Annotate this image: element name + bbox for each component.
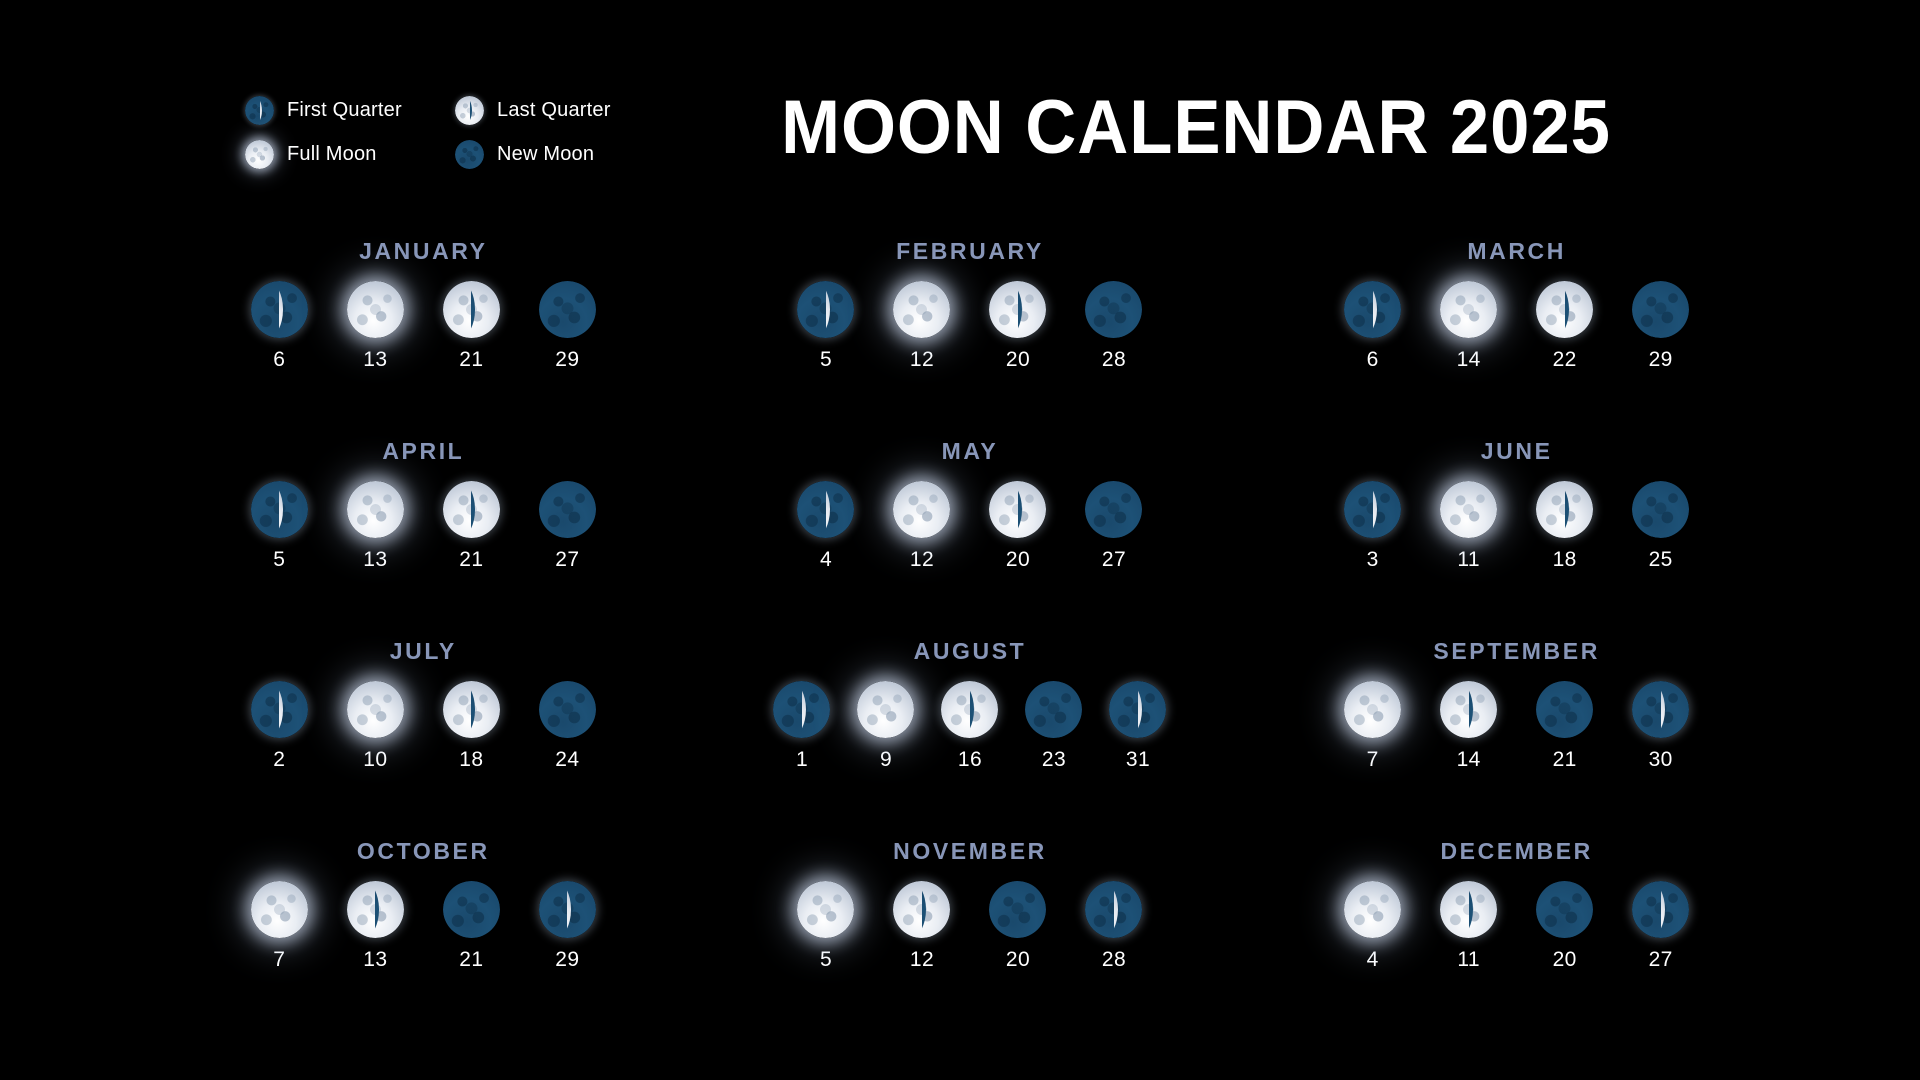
phase-row: 4112027 — [1342, 881, 1692, 972]
last-quarter-moon-icon — [1440, 881, 1497, 938]
phase-day-number: 21 — [459, 348, 483, 372]
new-moon-icon — [539, 281, 596, 338]
new-moon-icon — [1085, 281, 1142, 338]
phase-day-number: 18 — [459, 748, 483, 772]
phase-entry: 5 — [248, 481, 310, 572]
month-label: JUNE — [1481, 438, 1553, 465]
month-label: JANUARY — [359, 238, 488, 265]
phase-entry: 7 — [1342, 681, 1404, 772]
month-label: OCTOBER — [357, 838, 490, 865]
phase-day-number: 4 — [820, 548, 832, 572]
phase-day-number: 18 — [1553, 548, 1577, 572]
phase-entry: 20 — [987, 881, 1049, 972]
last-quarter-moon-icon — [455, 96, 484, 125]
phase-day-number: 23 — [1042, 748, 1066, 772]
last-quarter-moon-icon — [989, 481, 1046, 538]
month-block-october: OCTOBER7132129 — [150, 838, 697, 1038]
phase-day-number: 22 — [1553, 348, 1577, 372]
phase-entry: 4 — [1342, 881, 1404, 972]
new-moon-icon — [1025, 681, 1082, 738]
phase-row: 5122028 — [795, 281, 1145, 372]
phase-entry: 14 — [1438, 681, 1500, 772]
phase-entry: 21 — [1534, 681, 1596, 772]
phase-day-number: 29 — [555, 948, 579, 972]
full-moon-icon — [893, 481, 950, 538]
legend-label: Last Quarter — [497, 99, 611, 122]
phase-entry: 29 — [1630, 281, 1692, 372]
phase-entry: 7 — [248, 881, 310, 972]
first-quarter-moon-icon — [797, 481, 854, 538]
phase-row: 7132129 — [248, 881, 598, 972]
month-block-march: MARCH6142229 — [1243, 238, 1790, 438]
phase-row: 5122028 — [795, 881, 1145, 972]
month-block-june: JUNE3111825 — [1243, 438, 1790, 638]
phase-entry: 14 — [1438, 281, 1500, 372]
phase-day-number: 5 — [820, 348, 832, 372]
phase-day-number: 3 — [1367, 548, 1379, 572]
legend-item-full: Full Moon — [245, 140, 455, 169]
phase-day-number: 29 — [555, 348, 579, 372]
phase-day-number: 21 — [459, 548, 483, 572]
phase-day-number: 16 — [958, 748, 982, 772]
phase-day-number: 30 — [1649, 748, 1673, 772]
phase-entry: 5 — [795, 881, 857, 972]
legend-label: First Quarter — [287, 99, 402, 122]
phase-entry: 13 — [344, 881, 406, 972]
phase-entry: 28 — [1083, 281, 1145, 372]
phase-entry: 29 — [536, 881, 598, 972]
last-quarter-moon-icon — [443, 481, 500, 538]
phase-day-number: 28 — [1102, 948, 1126, 972]
full-moon-icon — [347, 481, 404, 538]
legend-item-last-quarter: Last Quarter — [455, 96, 665, 125]
full-moon-icon — [1440, 481, 1497, 538]
phase-entry: 22 — [1534, 281, 1596, 372]
phase-entry: 20 — [987, 481, 1049, 572]
phase-day-number: 12 — [910, 348, 934, 372]
phase-day-number: 27 — [1649, 948, 1673, 972]
phase-day-number: 2 — [273, 748, 285, 772]
phase-day-number: 12 — [910, 548, 934, 572]
phase-entry: 30 — [1630, 681, 1692, 772]
month-grid: JANUARY6132129FEBRUARY5122028MARCH614222… — [150, 238, 1790, 1038]
phase-day-number: 25 — [1649, 548, 1673, 572]
phase-entry: 21 — [440, 481, 502, 572]
phase-entry: 13 — [344, 481, 406, 572]
first-quarter-moon-icon — [797, 281, 854, 338]
phase-day-number: 21 — [1553, 748, 1577, 772]
first-quarter-moon-icon — [1632, 881, 1689, 938]
phase-day-number: 6 — [273, 348, 285, 372]
page-title: MOON CALENDAR 2025 — [722, 86, 1671, 170]
phase-day-number: 1 — [796, 748, 808, 772]
phase-entry: 27 — [1083, 481, 1145, 572]
phase-day-number: 14 — [1457, 348, 1481, 372]
phase-entry: 6 — [1342, 281, 1404, 372]
first-quarter-moon-icon — [1109, 681, 1166, 738]
phase-day-number: 7 — [273, 948, 285, 972]
phase-day-number: 4 — [1367, 948, 1379, 972]
month-block-september: SEPTEMBER7142130 — [1243, 638, 1790, 838]
last-quarter-moon-icon — [443, 681, 500, 738]
phase-entry: 9 — [855, 681, 917, 772]
phase-entry: 23 — [1023, 681, 1085, 772]
phase-entry: 24 — [536, 681, 598, 772]
last-quarter-moon-icon — [1536, 481, 1593, 538]
phase-entry: 12 — [891, 881, 953, 972]
full-moon-icon — [347, 681, 404, 738]
phase-entry: 13 — [344, 281, 406, 372]
phase-day-number: 13 — [363, 548, 387, 572]
phase-entry: 3 — [1342, 481, 1404, 572]
phase-entry: 31 — [1107, 681, 1169, 772]
month-block-july: JULY2101824 — [150, 638, 697, 838]
phase-entry: 10 — [344, 681, 406, 772]
first-quarter-moon-icon — [1344, 481, 1401, 538]
legend-item-new: New Moon — [455, 140, 665, 169]
phase-entry: 12 — [891, 481, 953, 572]
phase-day-number: 24 — [555, 748, 579, 772]
phase-day-number: 31 — [1126, 748, 1150, 772]
month-label: NOVEMBER — [893, 838, 1047, 865]
month-block-december: DECEMBER4112027 — [1243, 838, 1790, 1038]
phase-day-number: 28 — [1102, 348, 1126, 372]
phase-entry: 18 — [440, 681, 502, 772]
first-quarter-moon-icon — [773, 681, 830, 738]
phase-day-number: 7 — [1367, 748, 1379, 772]
phase-day-number: 5 — [273, 548, 285, 572]
month-label: JULY — [390, 638, 457, 665]
phase-entry: 5 — [795, 281, 857, 372]
last-quarter-moon-icon — [989, 281, 1046, 338]
month-label: MARCH — [1467, 238, 1566, 265]
phase-entry: 20 — [1534, 881, 1596, 972]
phase-entry: 20 — [987, 281, 1049, 372]
legend-label: Full Moon — [287, 143, 377, 166]
new-moon-icon — [539, 481, 596, 538]
month-block-february: FEBRUARY5122028 — [697, 238, 1244, 438]
full-moon-icon — [347, 281, 404, 338]
new-moon-icon — [455, 140, 484, 169]
phase-day-number: 21 — [459, 948, 483, 972]
phase-legend: First QuarterLast QuarterFull MoonNew Mo… — [245, 88, 665, 176]
phase-row: 4122027 — [795, 481, 1145, 572]
first-quarter-moon-icon — [1085, 881, 1142, 938]
phase-day-number: 9 — [880, 748, 892, 772]
phase-day-number: 12 — [910, 948, 934, 972]
phase-entry: 2 — [248, 681, 310, 772]
phase-day-number: 20 — [1006, 348, 1030, 372]
month-block-may: MAY4122027 — [697, 438, 1244, 638]
phase-entry: 27 — [1630, 881, 1692, 972]
month-block-august: AUGUST19162331 — [697, 638, 1244, 838]
phase-entry: 28 — [1083, 881, 1145, 972]
first-quarter-moon-icon — [245, 96, 274, 125]
last-quarter-moon-icon — [1536, 281, 1593, 338]
month-label: APRIL — [382, 438, 464, 465]
month-block-january: JANUARY6132129 — [150, 238, 697, 438]
page-header: First QuarterLast QuarterFull MoonNew Mo… — [0, 0, 1920, 210]
month-label: SEPTEMBER — [1433, 638, 1600, 665]
new-moon-icon — [443, 881, 500, 938]
month-label: AUGUST — [914, 638, 1027, 665]
phase-entry: 1 — [771, 681, 833, 772]
phase-entry: 4 — [795, 481, 857, 572]
new-moon-icon — [1536, 681, 1593, 738]
phase-row: 7142130 — [1342, 681, 1692, 772]
first-quarter-moon-icon — [1344, 281, 1401, 338]
phase-day-number: 13 — [363, 348, 387, 372]
month-label: FEBRUARY — [896, 238, 1044, 265]
phase-day-number: 5 — [820, 948, 832, 972]
legend-item-first-quarter: First Quarter — [245, 96, 455, 125]
last-quarter-moon-icon — [443, 281, 500, 338]
phase-entry: 27 — [536, 481, 598, 572]
phase-entry: 12 — [891, 281, 953, 372]
phase-day-number: 11 — [1457, 548, 1480, 572]
last-quarter-moon-icon — [1440, 681, 1497, 738]
new-moon-icon — [1536, 881, 1593, 938]
phase-day-number: 27 — [1102, 548, 1126, 572]
phase-row: 5132127 — [248, 481, 598, 572]
phase-day-number: 29 — [1649, 348, 1673, 372]
phase-day-number: 20 — [1006, 948, 1030, 972]
phase-row: 2101824 — [248, 681, 598, 772]
phase-day-number: 6 — [1367, 348, 1379, 372]
last-quarter-moon-icon — [893, 881, 950, 938]
full-moon-icon — [797, 881, 854, 938]
phase-day-number: 20 — [1553, 948, 1577, 972]
month-block-april: APRIL5132127 — [150, 438, 697, 638]
phase-entry: 6 — [248, 281, 310, 372]
new-moon-icon — [539, 681, 596, 738]
first-quarter-moon-icon — [251, 281, 308, 338]
full-moon-icon — [1344, 881, 1401, 938]
new-moon-icon — [989, 881, 1046, 938]
month-label: MAY — [942, 438, 999, 465]
full-moon-icon — [1440, 281, 1497, 338]
first-quarter-moon-icon — [1632, 681, 1689, 738]
phase-row: 6132129 — [248, 281, 598, 372]
phase-row: 6142229 — [1342, 281, 1692, 372]
phase-entry: 21 — [440, 281, 502, 372]
last-quarter-moon-icon — [941, 681, 998, 738]
legend-label: New Moon — [497, 143, 594, 166]
phase-day-number: 27 — [555, 548, 579, 572]
first-quarter-moon-icon — [251, 481, 308, 538]
phase-day-number: 11 — [1457, 948, 1480, 972]
phase-entry: 16 — [939, 681, 1001, 772]
full-moon-icon — [1344, 681, 1401, 738]
phase-entry: 11 — [1438, 481, 1500, 572]
full-moon-icon — [245, 140, 274, 169]
phase-day-number: 10 — [363, 748, 387, 772]
first-quarter-moon-icon — [251, 681, 308, 738]
phase-entry: 25 — [1630, 481, 1692, 572]
phase-row: 3111825 — [1342, 481, 1692, 572]
phase-day-number: 14 — [1457, 748, 1481, 772]
new-moon-icon — [1632, 481, 1689, 538]
phase-row: 19162331 — [771, 681, 1169, 772]
full-moon-icon — [857, 681, 914, 738]
phase-day-number: 20 — [1006, 548, 1030, 572]
phase-entry: 18 — [1534, 481, 1596, 572]
new-moon-icon — [1632, 281, 1689, 338]
phase-entry: 11 — [1438, 881, 1500, 972]
full-moon-icon — [251, 881, 308, 938]
first-quarter-moon-icon — [539, 881, 596, 938]
phase-entry: 29 — [536, 281, 598, 372]
new-moon-icon — [1085, 481, 1142, 538]
month-block-november: NOVEMBER5122028 — [697, 838, 1244, 1038]
phase-day-number: 13 — [363, 948, 387, 972]
last-quarter-moon-icon — [347, 881, 404, 938]
month-label: DECEMBER — [1440, 838, 1592, 865]
phase-entry: 21 — [440, 881, 502, 972]
full-moon-icon — [893, 281, 950, 338]
